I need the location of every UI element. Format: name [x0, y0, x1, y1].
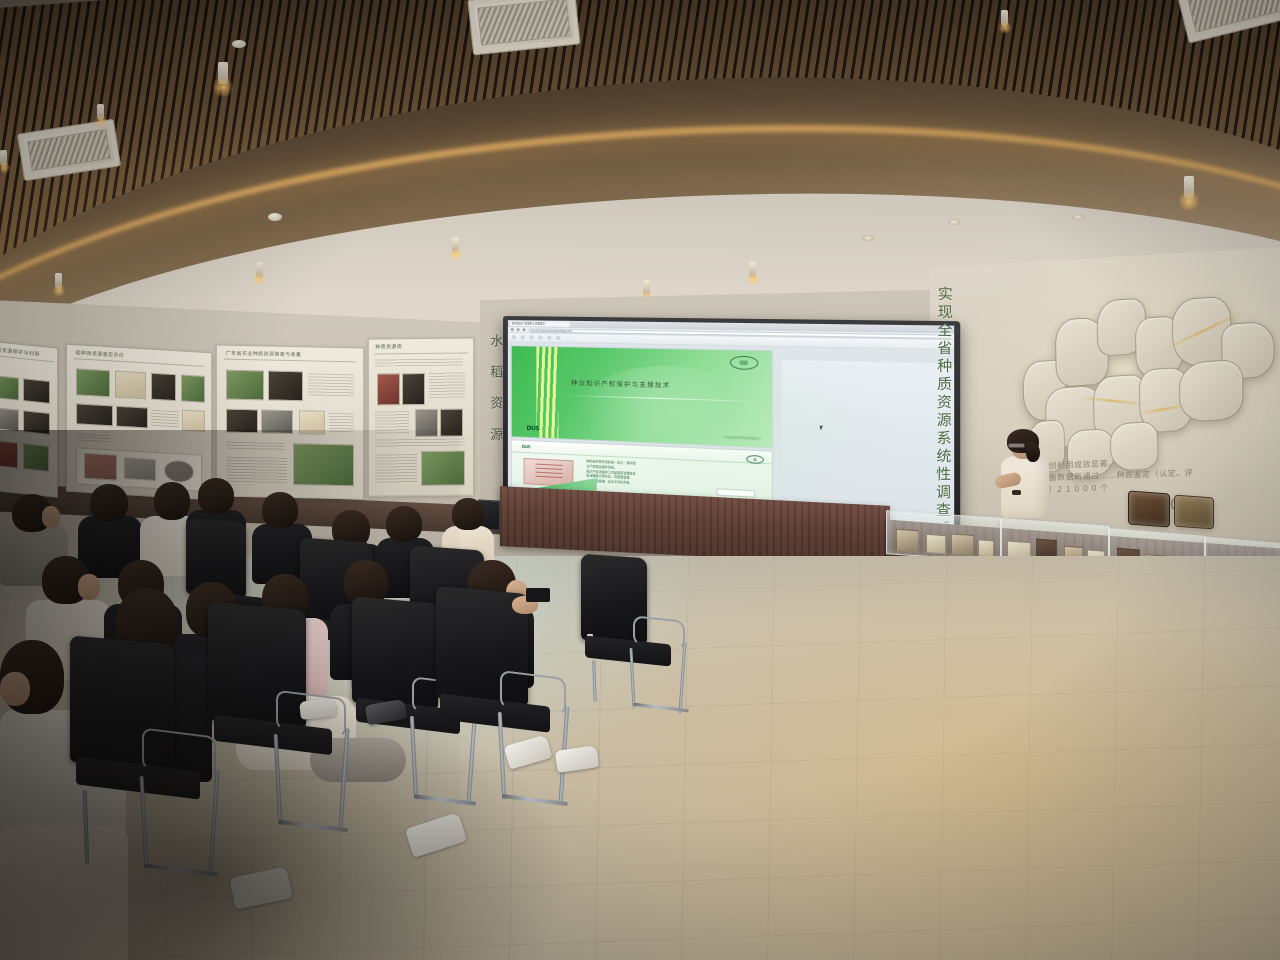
phone-icon	[526, 588, 550, 602]
smoke-detector-icon	[268, 213, 282, 221]
seminar-room-photo: 种质资源保护与利用 稻种质资源鉴定评价 广东省农业种质资源普查与收集	[0, 0, 1280, 960]
smoke-detector-icon	[232, 40, 246, 48]
shoe-icon	[299, 698, 337, 720]
exhibit-panel: 稻种质资源鉴定评价	[66, 344, 212, 501]
forward-icon[interactable]	[517, 328, 520, 331]
exhibit-panel: 广东省农业种质资源普查与收集	[216, 344, 364, 499]
slide-badge: 品	[746, 454, 764, 463]
ribbon-icon[interactable]	[547, 336, 551, 340]
spotlight-icon	[643, 280, 650, 296]
spotlight-icon	[256, 262, 263, 278]
chair[interactable]	[208, 606, 358, 852]
exhibit-panel: 种质资源库	[368, 337, 474, 496]
wristwatch-icon	[1012, 490, 1021, 495]
basket-artifact	[1128, 491, 1170, 528]
exhibit-panel: 种质资源保护与利用	[0, 340, 58, 498]
spotlight-icon	[749, 262, 756, 278]
dus-logo: DUS✓	[526, 425, 543, 433]
spotlight-icon	[1001, 10, 1008, 26]
spotlight-icon	[0, 150, 7, 166]
recessed-light-icon	[1072, 214, 1084, 220]
empty-chair[interactable]	[575, 556, 690, 726]
spotlight-icon	[452, 237, 459, 253]
wall-subtext: 原创利用成效显著。 1 亩数据新通过……种质鉴定（认定、评 价）2 1 0 0 …	[1040, 455, 1193, 496]
presenter	[995, 432, 1057, 524]
dus-logo: DUS	[522, 443, 531, 448]
ribbon-icon[interactable]	[556, 336, 560, 340]
panel-title: 广东省农业种质资源普查与收集	[226, 350, 302, 359]
browser-tab[interactable]: 种业知识产权保护与支撑技术	[510, 321, 570, 327]
presenter-hair-bun	[1026, 442, 1040, 462]
reload-icon[interactable]	[523, 328, 526, 331]
ribbon-icon[interactable]	[538, 336, 542, 340]
spotlight-icon	[97, 104, 104, 120]
chair[interactable]	[436, 590, 576, 830]
glasses-icon	[1008, 443, 1025, 448]
spotlight-icon	[1184, 176, 1194, 198]
logo-tick-icon: ✓	[539, 425, 544, 432]
recessed-light-icon	[948, 219, 960, 225]
slide-badge: 国家	[730, 356, 759, 370]
vertical-sign: 水 稻 资 源	[486, 334, 502, 447]
recessed-light-icon	[862, 235, 874, 241]
ribbon-icon[interactable]	[521, 335, 525, 339]
panel-title: 稻种质资源鉴定评价	[76, 349, 125, 359]
audience-member-with-phone	[512, 588, 558, 616]
back-icon[interactable]	[511, 328, 514, 331]
basket-artifact	[1174, 495, 1214, 530]
ribbon-icon[interactable]	[512, 335, 516, 339]
slide-title-page[interactable]: 国家 种业知识产权保护与支撑技术 DUS✓ 广东省农业科学院农业科研试验中心	[511, 345, 773, 449]
chair[interactable]	[70, 640, 230, 890]
panel-title: 种质资源库	[375, 343, 402, 350]
slide-empty-area	[782, 360, 954, 511]
spotlight-icon	[55, 273, 62, 289]
ribbon-icon[interactable]	[529, 335, 533, 339]
display-case	[886, 510, 1002, 562]
slide-title: 种业知识产权保护与支撑技术	[571, 378, 670, 390]
spotlight-icon	[218, 62, 228, 84]
